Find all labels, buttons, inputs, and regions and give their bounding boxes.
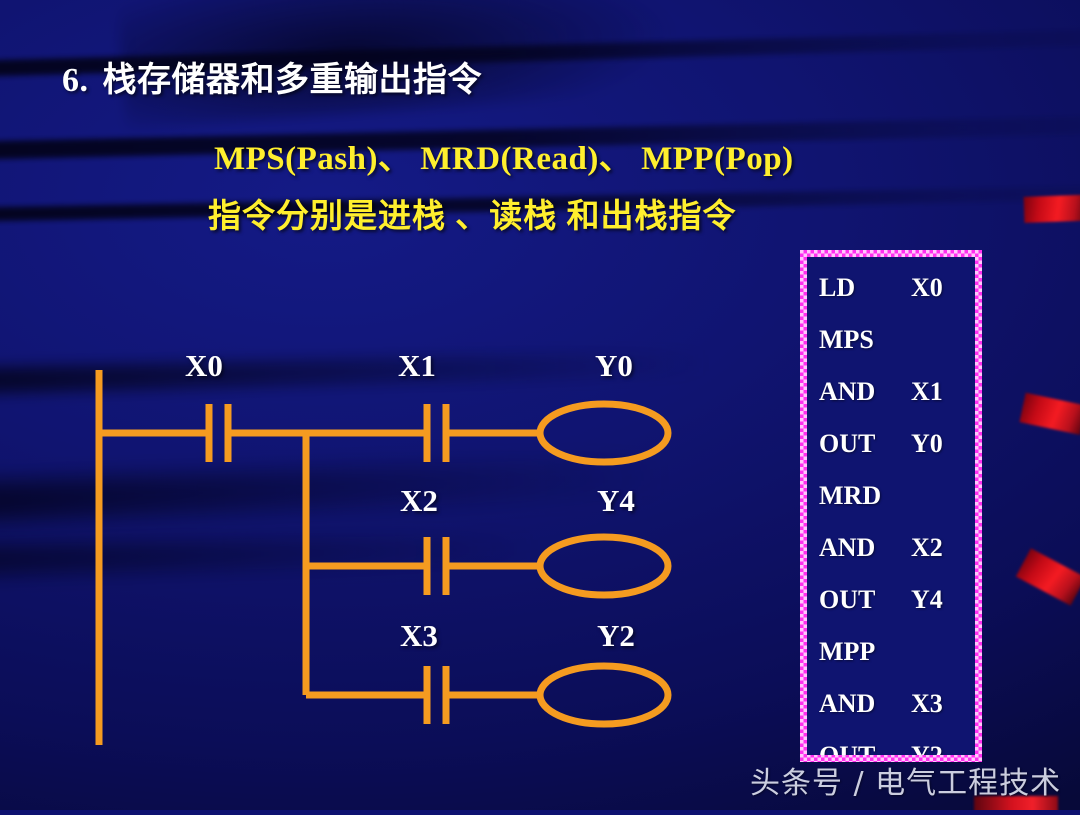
label-contact-x3: X3 xyxy=(400,618,438,654)
instruction-row: MPS xyxy=(807,325,975,377)
ladder-diagram: X0 X1 X2 X3 Y0 Y4 Y2 xyxy=(0,0,760,810)
instruction-row: OUTY4 xyxy=(807,585,975,637)
instruction-row: MRD xyxy=(807,481,975,533)
instruction-opcode: MRD xyxy=(819,481,881,511)
coil-y2 xyxy=(540,666,668,724)
instruction-list-box: LDX0MPSANDX1OUTY0MRDANDX2OUTY4MPPANDX3OU… xyxy=(800,250,982,762)
red-accent-mark xyxy=(1024,195,1080,223)
instruction-row: MPP xyxy=(807,637,975,689)
label-contact-x2: X2 xyxy=(400,483,438,519)
label-contact-x0: X0 xyxy=(185,348,223,384)
instruction-operand: X0 xyxy=(911,273,943,303)
instruction-opcode: OUT xyxy=(819,585,875,615)
instruction-opcode: AND xyxy=(819,689,875,719)
instruction-row: OUTY2 xyxy=(807,741,975,755)
instruction-opcode: OUT xyxy=(819,429,875,459)
instruction-opcode: MPP xyxy=(819,637,875,667)
label-coil-y2: Y2 xyxy=(597,618,635,654)
instruction-opcode: OUT xyxy=(819,741,875,755)
instruction-row: OUTY0 xyxy=(807,429,975,481)
instruction-operand: Y2 xyxy=(911,741,943,755)
instruction-row: ANDX3 xyxy=(807,689,975,741)
ladder-diagram-svg xyxy=(0,0,760,810)
instruction-row: ANDX2 xyxy=(807,533,975,585)
instruction-operand: X1 xyxy=(911,377,943,407)
instruction-opcode: AND xyxy=(819,533,875,563)
coil-y4 xyxy=(540,537,668,595)
instruction-operand: Y0 xyxy=(911,429,943,459)
coil-y0 xyxy=(540,404,668,462)
instruction-operand: Y4 xyxy=(911,585,943,615)
label-contact-x1: X1 xyxy=(398,348,436,384)
instruction-opcode: MPS xyxy=(819,325,874,355)
instruction-row: LDX0 xyxy=(807,273,975,325)
instruction-row: ANDX1 xyxy=(807,377,975,429)
instruction-operand: X3 xyxy=(911,689,943,719)
instruction-list: LDX0MPSANDX1OUTY0MRDANDX2OUTY4MPPANDX3OU… xyxy=(807,257,975,755)
label-coil-y4: Y4 xyxy=(597,483,635,519)
instruction-operand: X2 xyxy=(911,533,943,563)
label-coil-y0: Y0 xyxy=(595,348,633,384)
instruction-opcode: LD xyxy=(819,273,855,303)
watermark: 头条号 / 电气工程技术 xyxy=(750,758,1061,802)
instruction-opcode: AND xyxy=(819,377,875,407)
